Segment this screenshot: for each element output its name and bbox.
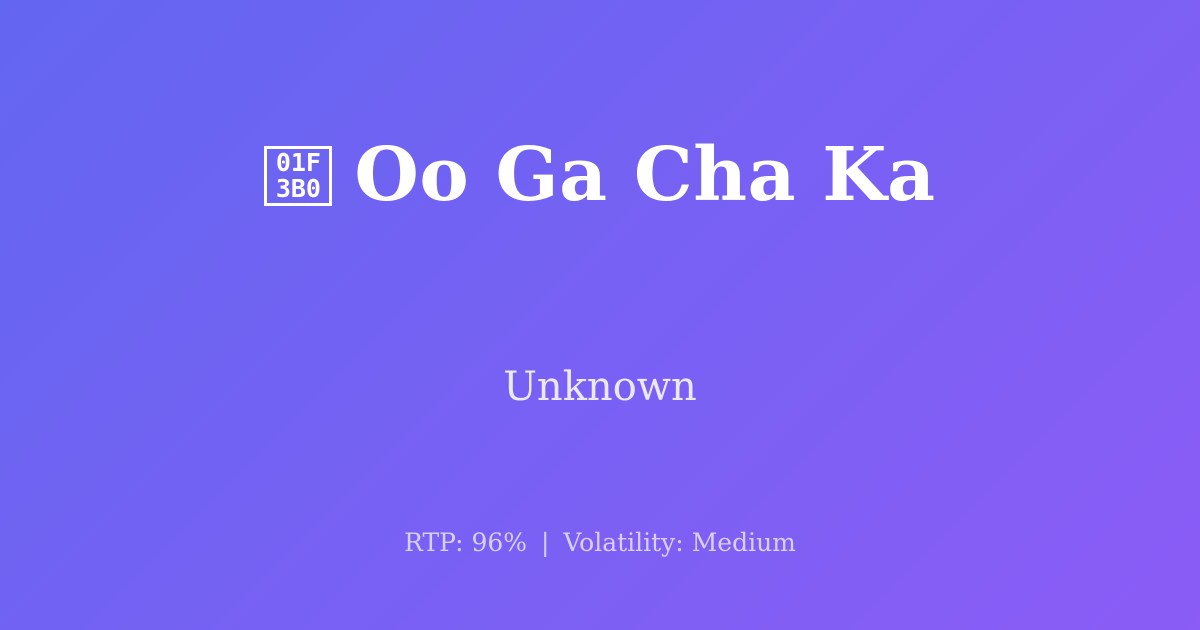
rtp-label: RTP: [404, 528, 463, 557]
slot-machine-icon: 01F 3B0 [264, 146, 332, 206]
missing-glyph-box: 01F 3B0 [264, 146, 332, 206]
codepoint-low: 3B0 [276, 176, 321, 202]
og-preview-card: 01F 3B0 Oo Ga Cha Ka Unknown RTP: 96% | … [0, 0, 1200, 630]
codepoint-high: 01F [276, 150, 321, 176]
page-title: Oo Ga Cha Ka [354, 137, 935, 215]
volatility-value: Medium [692, 528, 796, 557]
subtitle: Unknown [0, 363, 1200, 411]
volatility-label: Volatility: [563, 528, 683, 557]
meta-separator: | [535, 528, 555, 557]
rtp-value: 96% [471, 528, 527, 557]
game-meta: RTP: 96% | Volatility: Medium [0, 528, 1200, 558]
title-row: 01F 3B0 Oo Ga Cha Ka [0, 0, 1200, 352]
